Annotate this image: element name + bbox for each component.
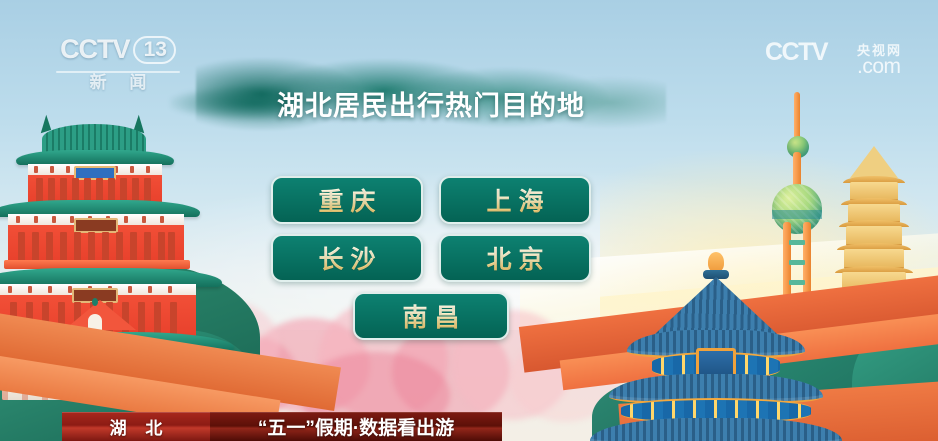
headline-banner: 湖北居民出行热门目的地 (196, 58, 666, 144)
temple-of-heaven-illustration (566, 252, 866, 441)
destination-button-beijing[interactable]: 北京 (439, 234, 591, 282)
page-title: 湖北居民出行热门目的地 (196, 84, 666, 123)
destination-label: 重庆 (311, 182, 382, 218)
destination-button-grid: 重庆 上海 长沙 北京 南昌 (271, 176, 591, 350)
broadcast-graphic: CCTV 13 新 闻 CCTV 央视网 .com 湖北居民出行热门目的地 重庆… (0, 0, 938, 441)
destination-button-chongqing[interactable]: 重庆 (271, 176, 423, 224)
lower-third-banner: 湖 北 “五一”假期·数据看出游 (62, 412, 502, 441)
topic-label-box: “五一”假期·数据看出游 (210, 412, 502, 441)
destination-label: 南昌 (395, 298, 466, 334)
destination-label: 北京 (479, 240, 550, 276)
destination-row-3: 南昌 (271, 292, 591, 340)
destination-row-1: 重庆 上海 (271, 176, 591, 224)
destination-row-2: 长沙 北京 (271, 234, 591, 282)
destination-label: 上海 (479, 182, 550, 218)
destination-button-shanghai[interactable]: 上海 (439, 176, 591, 224)
destination-button-changsha[interactable]: 长沙 (271, 234, 423, 282)
region-label-box: 湖 北 (62, 412, 210, 441)
topic-label: “五一”假期·数据看出游 (258, 413, 454, 440)
region-label: 湖 北 (103, 414, 170, 439)
destination-button-nanchang[interactable]: 南昌 (353, 292, 509, 340)
destination-label: 长沙 (311, 240, 382, 276)
